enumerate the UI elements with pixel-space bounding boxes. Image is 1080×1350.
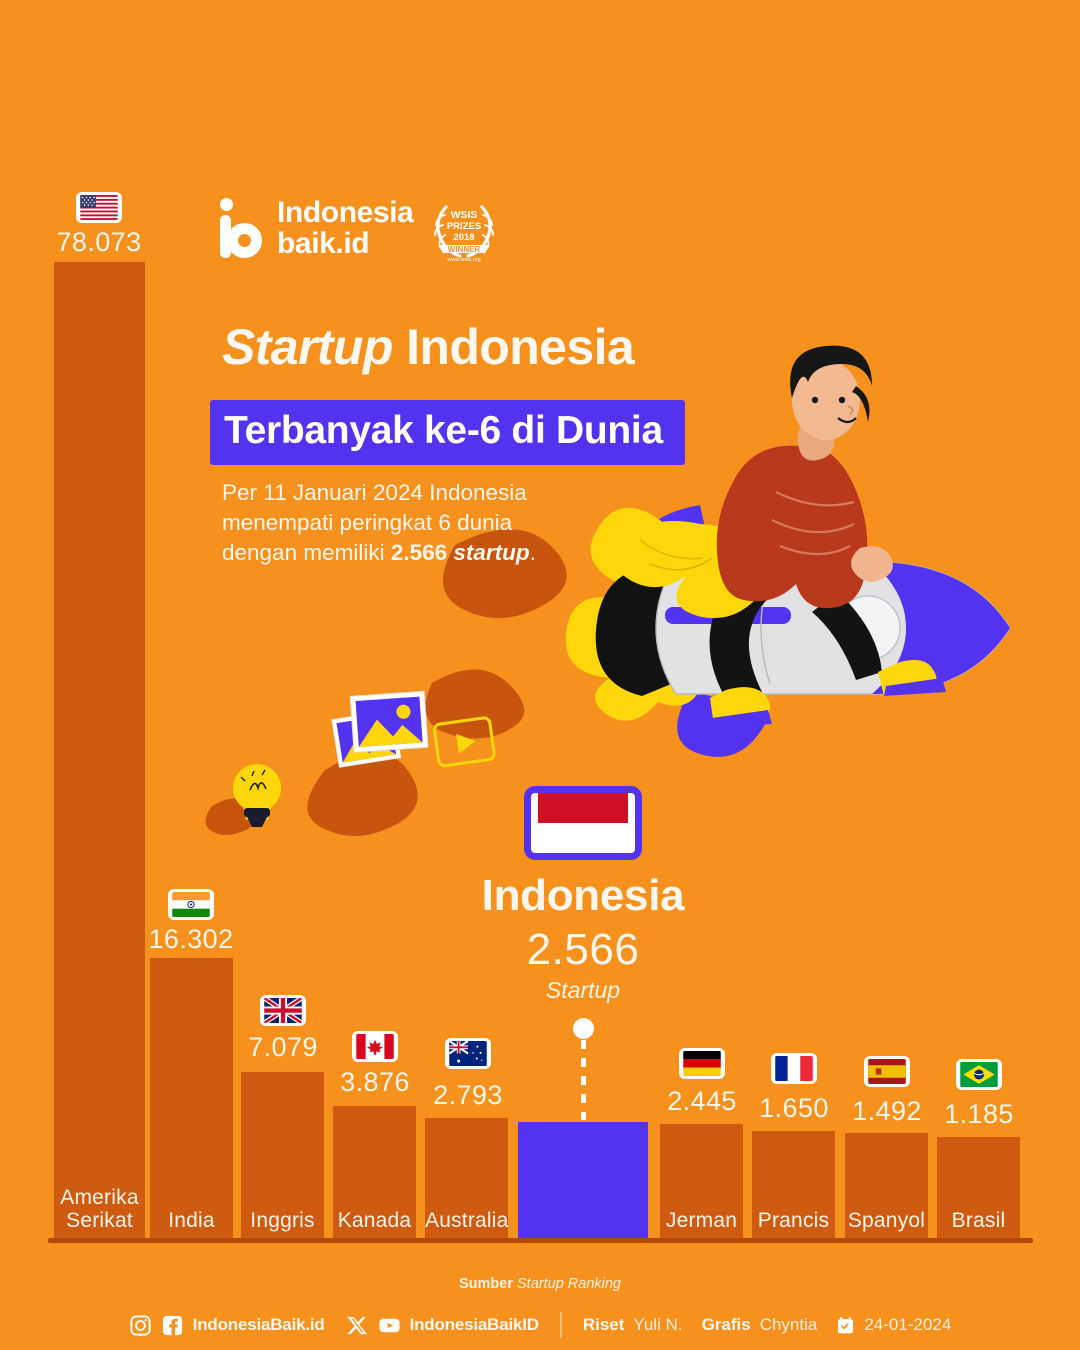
svg-text:2018: 2018 [454, 232, 475, 243]
callout-connector-line [581, 1040, 586, 1120]
description-line-2: menempati peringkat 6 dunia [222, 510, 512, 535]
source-line: Sumber Startup Ranking [0, 1276, 1080, 1292]
bar-label-germany: Jerman [660, 1209, 743, 1232]
bar-label-canada: Kanada [333, 1209, 416, 1232]
brand-name: Indonesia baik.id [277, 197, 413, 259]
bar-label-usa: Amerika Serikat [54, 1186, 145, 1232]
bar-value-australia: 2.793 [433, 1080, 503, 1111]
bar-label-india: India [150, 1209, 233, 1232]
bar-brazil: Brasil [937, 1137, 1020, 1238]
facebook-icon[interactable] [161, 1314, 184, 1337]
bar-chart: 78.073 Amerika Serikat 16.302 India 7.07… [0, 0, 1080, 1245]
bar-value-brazil: 1.185 [944, 1099, 1014, 1130]
flag-usa [76, 192, 122, 223]
source-value: Startup Ranking [517, 1276, 621, 1292]
bar-value-germany: 2.445 [667, 1086, 737, 1117]
flag-spain [864, 1056, 910, 1087]
bar-value-france: 1.650 [759, 1093, 829, 1124]
bar-usa: Amerika Serikat [54, 262, 145, 1238]
flag-india [168, 889, 214, 920]
title-italic-word: Startup [222, 319, 393, 375]
svg-text:WINNER: WINNER [448, 245, 481, 254]
callout-country: Indonesia [453, 871, 713, 921]
bar-germany: Jerman [660, 1124, 743, 1238]
riset-label: Riset [583, 1315, 625, 1335]
brand-logo[interactable]: Indonesia baik.id WSIS PRIZES 2018 WINNE… [218, 193, 502, 263]
x-twitter-icon[interactable] [346, 1314, 369, 1337]
footer-divider [560, 1312, 562, 1338]
svg-text:WSIS: WSIS [451, 209, 478, 221]
svg-text:PRIZES: PRIZES [447, 221, 481, 232]
handle-meta[interactable]: IndonesiaBaik.id [193, 1315, 325, 1335]
flag-australia [445, 1038, 491, 1069]
handle-x[interactable]: IndonesiaBaikID [410, 1315, 539, 1335]
description-highlight-word: startup [453, 540, 529, 565]
bar-canada: Kanada [333, 1106, 416, 1238]
title-rest: Indonesia [393, 319, 634, 375]
flag-uk [260, 995, 306, 1026]
page-title: Startup Indonesia [222, 318, 634, 376]
description-highlight-value: 2.566 [391, 540, 454, 565]
source-label: Sumber [459, 1276, 513, 1292]
bar-label-france: Prancis [752, 1209, 835, 1232]
bar-label-brazil: Brasil [937, 1209, 1020, 1232]
description-text: Per 11 Januari 2024 Indonesia menempati … [222, 478, 592, 568]
flag-france [771, 1053, 817, 1084]
bar-value-spain: 1.492 [852, 1096, 922, 1127]
grafis-label: Grafis [702, 1315, 751, 1335]
bar-india: India [150, 958, 233, 1238]
chart-baseline [48, 1238, 1033, 1243]
bar-label-australia: Australia [425, 1209, 508, 1232]
bar-spain: Spanyol [845, 1133, 928, 1238]
description-line-3a: dengan memiliki [222, 540, 391, 565]
flag-canada [352, 1031, 398, 1062]
bar-value-canada: 3.876 [340, 1067, 410, 1098]
bar-australia: Australia [425, 1118, 508, 1238]
riset-value: Yuli N. [633, 1315, 682, 1335]
bar-uk: Inggris [241, 1072, 324, 1238]
flag-indonesia-large [524, 786, 642, 860]
publish-date: 24-01-2024 [864, 1315, 951, 1335]
wsis-award-icon: WSIS PRIZES 2018 WINNER www.wsis.org [426, 193, 502, 263]
bar-indonesia [518, 1122, 648, 1238]
youtube-icon[interactable] [378, 1314, 401, 1337]
indonesia-callout: Indonesia 2.566 Startup [453, 786, 713, 1004]
bar-value-india: 16.302 [149, 924, 234, 955]
instagram-icon[interactable] [129, 1314, 152, 1337]
bar-value-usa: 78.073 [57, 227, 142, 258]
bar-value-uk: 7.079 [248, 1032, 318, 1063]
callout-unit: Startup [453, 977, 713, 1004]
subtitle-banner: Terbanyak ke-6 di Dunia [210, 400, 685, 465]
description-period: . [530, 540, 536, 565]
flag-germany [679, 1048, 725, 1079]
footer-bar: IndonesiaBaik.id IndonesiaBaikID Riset Y… [0, 1312, 1080, 1338]
calendar-icon [836, 1316, 855, 1335]
callout-value: 2.566 [453, 925, 713, 975]
description-line-1: Per 11 Januari 2024 Indonesia [222, 480, 527, 505]
b-mark-icon [218, 198, 264, 258]
grafis-value: Chyntia [760, 1315, 818, 1335]
bar-label-uk: Inggris [241, 1209, 324, 1232]
page-subtitle: Terbanyak ke-6 di Dunia [224, 409, 663, 453]
infographic-canvas: 78.073 Amerika Serikat 16.302 India 7.07… [0, 0, 1080, 1350]
flag-brazil [956, 1059, 1002, 1090]
bar-france: Prancis [752, 1131, 835, 1238]
callout-connector-dot [573, 1018, 594, 1039]
bar-label-spain: Spanyol [845, 1209, 928, 1232]
svg-text:www.wsis.org: www.wsis.org [447, 257, 481, 263]
